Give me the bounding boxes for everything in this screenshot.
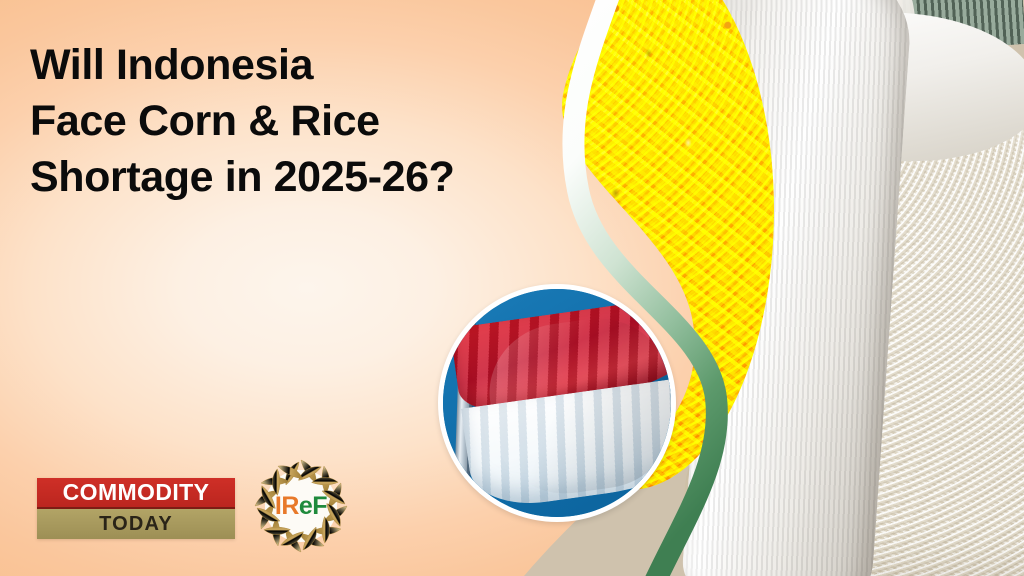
iref-letters-orange: IR bbox=[275, 494, 299, 519]
indonesia-flag-cloth bbox=[450, 295, 676, 507]
page-title: Will Indonesia Face Corn & Rice Shortage… bbox=[30, 38, 590, 206]
iref-logo[interactable]: IReF bbox=[247, 452, 355, 560]
logo-today-text: TODAY bbox=[99, 514, 173, 534]
indonesia-flag-badge bbox=[438, 284, 676, 522]
iref-letters-green: eF bbox=[299, 494, 327, 519]
iref-wordmark: IReF bbox=[247, 452, 355, 560]
logo-commodity-band: COMMODITY bbox=[37, 478, 235, 509]
commodity-today-logo[interactable]: COMMODITY TODAY bbox=[37, 478, 235, 539]
logo-today-band: TODAY bbox=[37, 509, 235, 539]
promo-banner: Will Indonesia Face Corn & Rice Shortage… bbox=[0, 0, 1024, 576]
logo-commodity-text: COMMODITY bbox=[63, 481, 210, 504]
